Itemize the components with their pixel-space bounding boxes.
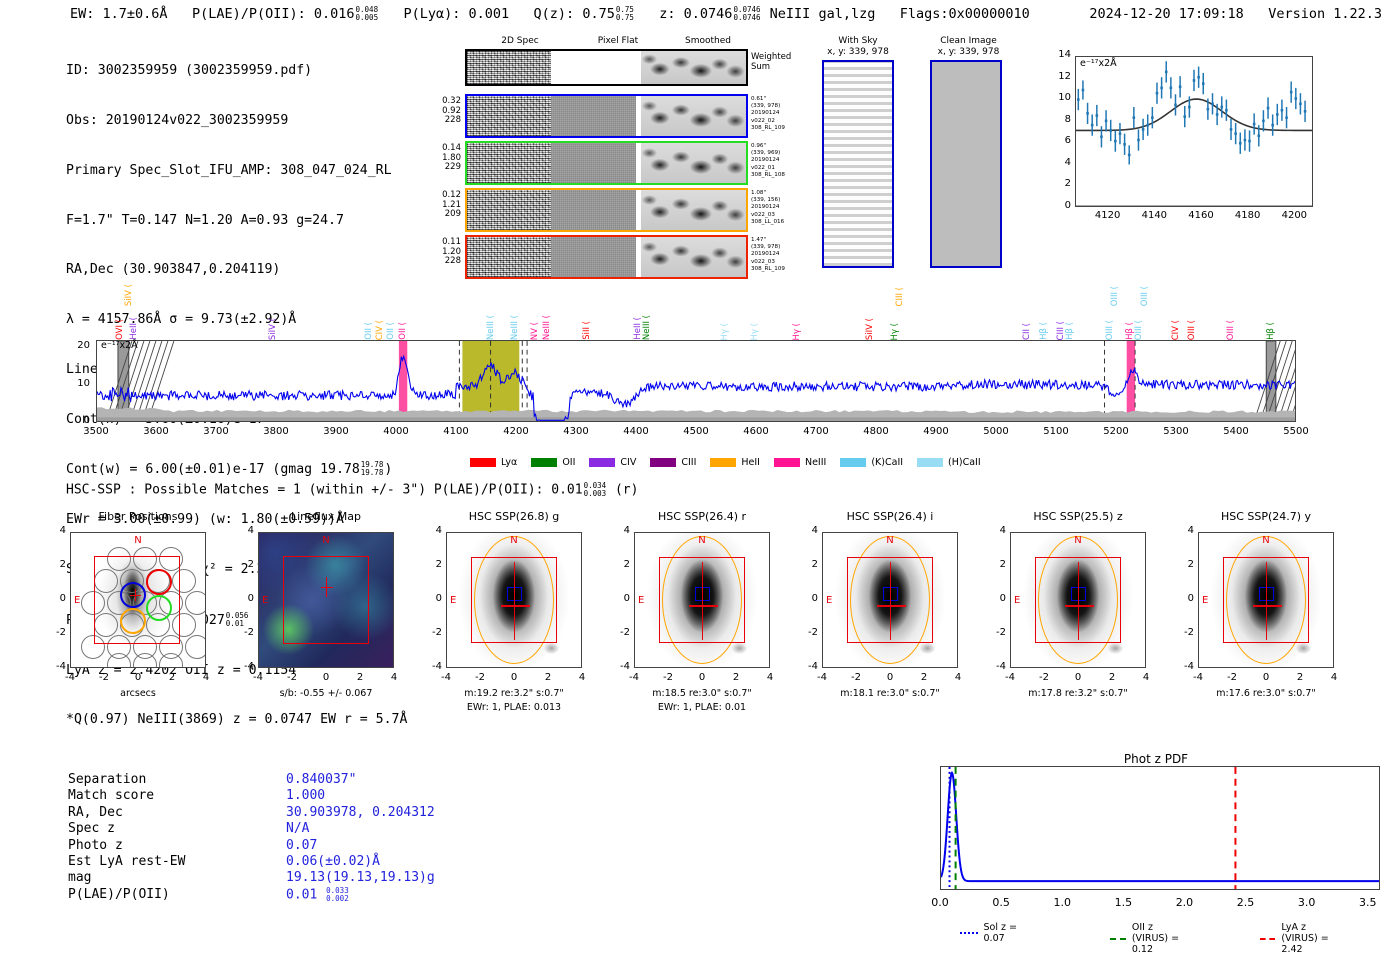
- photz-xtick-5: 2.5: [1226, 896, 1266, 909]
- fiber-4-pixelflat: [551, 237, 636, 277]
- match-row-label-7: P(LAE)/P(OII): [68, 887, 170, 903]
- photz-svg: [941, 767, 1379, 889]
- imaging-3-ytick-3: -2: [608, 627, 630, 638]
- fiber-1-identifier: 0.61"(339, 978)20190124v022_02308_RL_109: [751, 96, 785, 132]
- line-fit-ytick-4: 4: [1051, 157, 1071, 168]
- full-spectrum-plot: e⁻¹⁷x2Å 01020 35003600370038003900400041…: [96, 340, 1296, 432]
- imaging-0-footer-primary: arcsecs: [43, 688, 233, 701]
- imaging-0-xtick-0: -4: [55, 672, 85, 683]
- header-classification: NeIII gal,lzg: [770, 6, 876, 22]
- legend-label-KCaII: (K)CaII: [871, 457, 903, 468]
- imaging-6-footer-primary: m:17.6 re:3.0" s:0.7": [1171, 688, 1361, 701]
- imaging-panel-title-3: HSC SSP(26.4) r: [622, 510, 782, 523]
- fiber-1-pixelflat: [551, 96, 636, 136]
- fiber-2-id-line-3: 20190124: [751, 157, 785, 164]
- legend-swatch-OII: [531, 458, 557, 467]
- imaging-3-ytick-2: 0: [608, 593, 630, 604]
- fiber-2-pixelflat: [551, 143, 636, 183]
- match-row-value-6: 19.13(19.13,19.13)g: [286, 870, 435, 886]
- spectrum-xtick-5100: 5100: [1031, 426, 1081, 437]
- timestamp: 2024-12-20 17:09:18: [1089, 6, 1243, 22]
- legend-swatch-HeII: [710, 458, 736, 467]
- imaging-panel-title-2: HSC SSP(26.8) g: [434, 510, 594, 523]
- fiber-3-identifier: 1.08"(339, 156)20190124v022_03308_LL_016: [751, 190, 784, 226]
- imaging-6-ytick-0: 4: [1172, 525, 1194, 536]
- imaging-4-ytick-2: 0: [796, 593, 818, 604]
- imaging-panel-title-4: HSC SSP(26.4) i: [810, 510, 970, 523]
- photz-legend-label-2: LyA z (VIRUS) = 2.42: [1281, 922, 1332, 955]
- imaging-3-xtick-3: 2: [721, 672, 751, 683]
- spectrum-line-label-OII-3991: OII (: [386, 322, 396, 340]
- fiber-2-id-line-4: v022_01: [751, 165, 785, 172]
- info-cont-w: Cont(w) = 6.00(±0.01)e-17 (gmag 19.7819.…: [66, 461, 407, 479]
- compass-north-label: N: [322, 535, 329, 546]
- full-spectrum-svg: [97, 341, 1295, 421]
- imaging-2-footer-secondary: EWr: 1, PLAE: 0.013: [419, 702, 609, 715]
- photz-pdf-plot: 0.00.51.01.52.02.53.03.5: [928, 766, 1388, 916]
- fiber-2-metric-3: 229: [423, 163, 461, 173]
- spectrum-xtick-3600: 3600: [131, 426, 181, 437]
- header-plae-lo: 0.005: [356, 14, 379, 22]
- col-title-smoothed: Smoothed: [663, 36, 753, 46]
- match-row-label-0: Separation: [68, 772, 146, 788]
- imaging-panel-title-1: Lineflux Map: [246, 510, 406, 523]
- imaging-cross-h: [689, 605, 718, 606]
- spectrum-xtick-4800: 4800: [851, 426, 901, 437]
- imaging-4-xtick-1: -2: [841, 672, 871, 683]
- imaging-panel-image-5[interactable]: NE: [1010, 532, 1146, 668]
- imaging-0-ytick-0: 4: [44, 525, 66, 536]
- fiber-2-identifier: 0.96"(339, 969)20190124v022_01308_RL_108: [751, 143, 785, 179]
- fiber-red-box: [94, 556, 180, 644]
- fiber-2-metrics: 0.141.80229: [423, 144, 461, 173]
- imaging-3-ytick-1: 2: [608, 559, 630, 570]
- fiber-cross-v: [135, 589, 136, 601]
- photz-legend-line-2: [1260, 938, 1275, 940]
- imaging-2-ytick-0: 4: [420, 525, 442, 536]
- spectrum-line-label-NV-4232: NV (: [530, 322, 540, 340]
- compass-north-label: N: [1074, 535, 1081, 546]
- plae-frac: 0.0560.01: [226, 612, 249, 628]
- fiber-2-id-line-2: (339, 969): [751, 150, 785, 157]
- spectrum-legend-item-NeIII: NeIII: [774, 457, 826, 468]
- spectrum-line-label-Hβ-5124: Hβ (: [1065, 322, 1075, 340]
- imaging-panel-fiber-0[interactable]: NE: [70, 532, 206, 668]
- match-row-value-3: N/A: [286, 821, 309, 837]
- imaging-0-xtick-3: 2: [157, 672, 187, 683]
- line-fit-xtick-4180: 4180: [1228, 210, 1268, 221]
- imaging-6-xtick-3: 2: [1285, 672, 1315, 683]
- imaging-1-xtick-1: -2: [277, 672, 307, 683]
- imaging-5-ytick-2: 0: [984, 593, 1006, 604]
- spectrum-line-label-SiIV-3795: SiIV (: [268, 318, 278, 340]
- imaging-1-footer-primary: s/b: -0.55 +/- 0.067: [231, 688, 421, 701]
- imaging-3-xtick-1: -2: [653, 672, 683, 683]
- spectrum-xtick-4900: 4900: [911, 426, 961, 437]
- spectrum-legend-item-CIV: CIV: [589, 457, 636, 468]
- fiber-1-id-line-1: 0.61": [751, 96, 785, 103]
- match-row-value-7: 0.01 0.0330.002: [286, 887, 350, 904]
- imaging-cross-h: [501, 605, 530, 606]
- compass-east-label: E: [450, 595, 456, 606]
- spectrum-ytick-0: 0: [66, 415, 90, 426]
- imaging-panel-lineflux-1[interactable]: NE: [258, 532, 394, 668]
- imaging-0-ytick-1: 2: [44, 559, 66, 570]
- spectrum-xtick-4000: 4000: [371, 426, 421, 437]
- imaging-4-ytick-1: 2: [796, 559, 818, 570]
- clean-image-cutout[interactable]: [930, 60, 1002, 268]
- fiber-4-id-line-5: 308_RL_109: [751, 266, 785, 273]
- imaging-3-xtick-4: 4: [755, 672, 785, 683]
- spectrum-line-label-CIV-5300: CIV (: [1171, 320, 1181, 340]
- fiber-4-id-line-1: 1.47": [751, 237, 785, 244]
- match-row-label-2: RA, Dec: [68, 805, 123, 821]
- imaging-5-xtick-2: 0: [1063, 672, 1093, 683]
- imaging-panel-title-6: HSC SSP(24.7) y: [1186, 510, 1346, 523]
- legend-swatch-CIII: [650, 458, 676, 467]
- spectrum-line-label-Hγ-4598: Hγ (: [750, 323, 760, 340]
- compass-east-label: E: [638, 595, 644, 606]
- compass-north-label: N: [134, 535, 141, 546]
- imaging-1-xtick-3: 2: [345, 672, 375, 683]
- imaging-1-ytick-3: -2: [232, 627, 254, 638]
- imaging-2-xtick-1: -2: [465, 672, 495, 683]
- fiber-circle-4-4[interactable]: [185, 635, 206, 659]
- legend-swatch-HCaII: [917, 458, 943, 467]
- cont-w-suffix: ): [384, 462, 392, 477]
- weighted-sum-smoothed: [641, 51, 746, 84]
- imaging-cross-h: [1065, 605, 1094, 606]
- legend-label-OII: OII: [562, 457, 575, 468]
- compass-east-label: E: [826, 595, 832, 606]
- fiber-1-2dspec: [467, 96, 551, 136]
- match-row-value-4: 0.07: [286, 838, 317, 854]
- header-qz-lo: 0.75: [616, 14, 634, 22]
- legend-swatch-KCaII: [840, 458, 866, 467]
- legend-swatch-NeIII: [774, 458, 800, 467]
- spectrum-line-label-SiIV-3555: SiIV (: [124, 284, 134, 306]
- hscssp-header: HSC-SSP : Possible Matches = 1 (within +…: [66, 482, 638, 498]
- imaging-panel-image-6[interactable]: NE: [1198, 532, 1334, 668]
- imaging-cross-h: [1253, 605, 1282, 606]
- line-fit-xtick-4120: 4120: [1088, 210, 1128, 221]
- spectrum-line-label-OII-3955: OII (: [364, 322, 374, 340]
- header-z-lo: 0.0746: [733, 14, 760, 22]
- photz-legend-item-0: Sol z = 0.07: [960, 922, 1017, 944]
- fiber-1-metrics: 0.320.92228: [423, 97, 461, 126]
- imaging-1-xtick-2: 0: [311, 672, 341, 683]
- spectrum-xtick-4400: 4400: [611, 426, 661, 437]
- sky-cutouts-group: With Sky x, y: 339, 978 Clean Image x, y…: [808, 36, 1038, 286]
- imaging-5-xtick-3: 2: [1097, 672, 1127, 683]
- imaging-2-xtick-2: 0: [499, 672, 529, 683]
- legend-label-CIII: CIII: [681, 457, 696, 468]
- spectrum-ytick-10: 10: [66, 378, 90, 389]
- fiber-2-id-line-5: 308_RL_108: [751, 172, 785, 179]
- compass-east-label: E: [1202, 595, 1208, 606]
- with-sky-title-text: With Sky: [808, 36, 908, 47]
- fiber-circle-2-4[interactable]: [185, 591, 206, 615]
- spectrum-xtick-5000: 5000: [971, 426, 1021, 437]
- imaging-cross-v: [1078, 562, 1079, 640]
- fiber-3-2dspec: [467, 190, 551, 230]
- line-fit-svg: [1076, 57, 1312, 206]
- header-plae-label: P(LAE)/P(OII):: [192, 6, 306, 22]
- imaging-panel-title-0: Fiber Positions: [58, 510, 218, 523]
- imaging-panel-image-4[interactable]: NE: [822, 532, 958, 668]
- fiber-1-id-line-2: (339, 978): [751, 103, 785, 110]
- line-fit-units-note: e⁻¹⁷x2Å: [1080, 58, 1117, 69]
- fiber-1-id-line-3: 20190124: [751, 110, 785, 117]
- weighted-sum-label: Weighted Sum: [751, 52, 791, 72]
- weighted-sum-pixelflat: [551, 51, 636, 84]
- photz-xtick-4: 2.0: [1164, 896, 1204, 909]
- line-fit-ytick-8: 8: [1051, 114, 1071, 125]
- imaging-5-ytick-4: -4: [984, 661, 1006, 672]
- imaging-1-ytick-2: 0: [232, 593, 254, 604]
- fiber-4-metrics: 0.111.20228: [423, 238, 461, 267]
- info-qline: *Q(0.97) NeIII(3869) z = 0.0747 EW r = 5…: [66, 712, 407, 729]
- fiber-panel-3[interactable]: [465, 188, 748, 232]
- photz-xtick-1: 0.5: [981, 896, 1021, 909]
- legend-label-Lyα: Lyα: [501, 457, 517, 468]
- weighted-sum-2dspec: [467, 51, 551, 84]
- header-qz-frac: 0.750.75: [616, 6, 634, 22]
- line-fit-plot: e⁻¹⁷x2Å 02468101214 41204140416041804200: [1035, 48, 1313, 233]
- imaging-4-footer-primary: m:18.1 re:3.0" s:0.7": [795, 688, 985, 701]
- imaging-2-ytick-3: -2: [420, 627, 442, 638]
- weighted-sum-label-line2: Sum: [751, 62, 791, 72]
- line-fit-ytick-6: 6: [1051, 135, 1071, 146]
- fiber-1-id-line-5: 308_RL_109: [751, 125, 785, 132]
- imaging-4-ytick-0: 4: [796, 525, 818, 536]
- spectrum-line-label-Hβ-5458: Hβ (: [1266, 322, 1276, 340]
- cont-w-frac: 19.7819.78: [361, 461, 384, 477]
- weighted-sum-label-line1: Weighted: [751, 52, 791, 62]
- spectrum-legend-item-CIII: CIII: [650, 457, 696, 468]
- imaging-4-xtick-2: 0: [875, 672, 905, 683]
- clean-image-coords: x, y: 339, 978: [916, 47, 1021, 58]
- spectrum-line-label-OIII-5326: OIII (: [1187, 320, 1197, 340]
- photz-xtick-2: 1.0: [1042, 896, 1082, 909]
- lineflux-red-box: [283, 556, 369, 644]
- cont-w-prefix: Cont(w) = 6.00(±0.01)e-17 (gmag 19.78: [66, 462, 360, 477]
- spectrum-xtick-5300: 5300: [1151, 426, 1201, 437]
- imaging-5-xtick-0: -4: [995, 672, 1025, 683]
- photz-xtick-3: 1.5: [1103, 896, 1143, 909]
- fiber-4-id-line-2: (339, 978): [751, 244, 785, 251]
- fiber-3-metrics: 0.121.21209: [423, 191, 461, 220]
- photz-legend-label-1: OII z (VIRUS) = 0.12: [1132, 922, 1182, 955]
- spec2d-panel-group: 2D Spec Pixel Flat Smoothed Weighted Sum…: [455, 36, 800, 281]
- compass-north-label: N: [510, 535, 517, 546]
- imaging-1-ytick-1: 2: [232, 559, 254, 570]
- spectrum-xtick-4600: 4600: [731, 426, 781, 437]
- full-spectrum-axes: e⁻¹⁷x2Å: [96, 340, 1296, 422]
- legend-label-CIV: CIV: [620, 457, 636, 468]
- spectrum-xtick-4700: 4700: [791, 426, 841, 437]
- fiber-panel-2[interactable]: [465, 141, 748, 185]
- info-obs: Obs: 20190124v022_3002359959: [66, 113, 407, 130]
- fiber-3-metric-3: 209: [423, 210, 461, 220]
- info-primary-slot: Primary Spec_Slot_IFU_AMP: 308_047_024_R…: [66, 163, 407, 180]
- photz-legend-line-0: [960, 932, 978, 934]
- spectrum-line-label-OII-4012: OII (: [398, 322, 408, 340]
- spectrum-xtick-3500: 3500: [71, 426, 121, 437]
- spectrum-xtick-4200: 4200: [491, 426, 541, 437]
- imaging-4-xtick-0: -4: [807, 672, 837, 683]
- spectrum-xtick-3800: 3800: [251, 426, 301, 437]
- header-plae-frac: 0.0480.005: [356, 6, 379, 22]
- line-fit-ytick-0: 0: [1051, 200, 1071, 211]
- imaging-panel-image-2[interactable]: NE: [446, 532, 582, 668]
- spectrum-line-label-SiIV-4790: SiIV (: [865, 318, 875, 340]
- clean-image-title-text: Clean Image: [916, 36, 1021, 47]
- fiber-panel-1[interactable]: [465, 94, 748, 138]
- header-z-frac: 0.07460.0746: [733, 6, 760, 22]
- imaging-4-xtick-3: 2: [909, 672, 939, 683]
- fiber-3-id-line-4: v022_03: [751, 212, 784, 219]
- imaging-5-footer-primary: m:17.8 re:3.2" s:0.7": [983, 688, 1173, 701]
- match-row-label-5: Est LyA rest-EW: [68, 854, 185, 870]
- line-fit-xtick-4140: 4140: [1134, 210, 1174, 221]
- imaging-3-ytick-4: -4: [608, 661, 630, 672]
- spectrum-legend-item-Lyα: Lyα: [470, 457, 517, 468]
- imaging-0-xtick-2: 0: [123, 672, 153, 683]
- imaging-0-ytick-3: -2: [44, 627, 66, 638]
- fiber-4-id-line-4: v022_03: [751, 259, 785, 266]
- spectrum-xtick-5500: 5500: [1271, 426, 1321, 437]
- compass-north-label: N: [1262, 535, 1269, 546]
- imaging-3-xtick-2: 0: [687, 672, 717, 683]
- spectrum-line-label-CIV-3973: CIV (: [375, 320, 385, 340]
- fiber-4-identifier: 1.47"(339, 978)20190124v022_03308_RL_109: [751, 237, 785, 273]
- hscssp-header-suffix: (r): [615, 483, 638, 498]
- legend-label-HeII: HeII: [741, 457, 760, 468]
- info-radec: RA,Dec (30.903847,0.204119): [66, 262, 407, 279]
- info-id: ID: 3002359959 (3002359959.pdf): [66, 63, 407, 80]
- match-row-label-6: mag: [68, 870, 91, 886]
- spectrum-legend-item-OII: OII: [531, 457, 575, 468]
- fiber-3-smoothed: [641, 190, 746, 230]
- imaging-5-ytick-0: 4: [984, 525, 1006, 536]
- header-flags: Flags:0x00000010: [900, 6, 1030, 22]
- hscssp-header-lo: 0.003: [584, 490, 607, 498]
- spectrum-xtick-4100: 4100: [431, 426, 481, 437]
- spectrum-line-label-Hβ-5080: Hβ (: [1039, 322, 1049, 340]
- imaging-cross-v: [514, 562, 515, 640]
- fiber-panel-4[interactable]: [465, 235, 748, 279]
- imaging-3-ytick-0: 4: [608, 525, 630, 536]
- compass-east-label: E: [1014, 595, 1020, 606]
- imaging-2-ytick-1: 2: [420, 559, 442, 570]
- imaging-3-footer-secondary: EWr: 1, PLAE: 0.01: [607, 702, 797, 715]
- spectrum-legend-item-KCaII: (K)CaII: [840, 457, 903, 468]
- line-fit-axes: e⁻¹⁷x2Å: [1075, 56, 1313, 207]
- match-row-value-2: 30.903978, 0.204312: [286, 805, 435, 821]
- imaging-0-xtick-1: -2: [89, 672, 119, 683]
- spectrum-line-label-HeII-3563: HeII (: [129, 317, 139, 340]
- imaging-5-ytick-1: 2: [984, 559, 1006, 570]
- fiber-3-id-line-2: (339, 156): [751, 197, 784, 204]
- fiber-3-pixelflat: [551, 190, 636, 230]
- imaging-0-xtick-4: 4: [191, 672, 221, 683]
- imaging-2-xtick-0: -4: [431, 672, 461, 683]
- with-sky-title: With Sky x, y: 339, 978: [808, 36, 908, 58]
- spectrum-line-label-SiII-4318: SiII (: [582, 321, 592, 340]
- imaging-2-footer-primary: m:19.2 re:3.2" s:0.7": [419, 688, 609, 701]
- imaging-5-xtick-1: -2: [1029, 672, 1059, 683]
- col-title-2dspec: 2D Spec: [470, 36, 570, 46]
- spectrum-line-label-CII-5052: CII (: [1022, 323, 1032, 340]
- imaging-2-xtick-4: 4: [567, 672, 597, 683]
- header-ew: EW: 1.7±0.6Å: [70, 6, 168, 22]
- fiber-2-2dspec: [467, 143, 551, 183]
- spectrum-line-label-OIII-5190: OIII (: [1105, 320, 1115, 340]
- imaging-1-ytick-0: 4: [232, 525, 254, 536]
- spectrum-xtick-5400: 5400: [1211, 426, 1261, 437]
- imaging-cross-v: [1266, 562, 1267, 640]
- fiber-3-id-line-1: 1.08": [751, 190, 784, 197]
- info-seeing-params: F=1.7" T=0.147 N=1.20 A=0.93 g=24.7: [66, 213, 407, 230]
- imaging-2-ytick-2: 0: [420, 593, 442, 604]
- spectrum-xtick-5200: 5200: [1091, 426, 1141, 437]
- imaging-panel-title-5: HSC SSP(25.5) z: [998, 510, 1158, 523]
- spectrum-line-label-Hγ-4548: Hγ (: [720, 323, 730, 340]
- compass-north-label: N: [886, 535, 893, 546]
- line-fit-xtick-4200: 4200: [1274, 210, 1314, 221]
- fiber-1-id-line-4: v022_02: [751, 118, 785, 125]
- imaging-4-xtick-4: 4: [943, 672, 973, 683]
- imaging-3-xtick-0: -4: [619, 672, 649, 683]
- line-fit-xtick-4160: 4160: [1181, 210, 1221, 221]
- spectrum-line-label-NeIII-4252: NeIII (: [542, 315, 552, 340]
- spectrum-line-label-CIII-4840: CIII (: [895, 287, 905, 306]
- imaging-panel-image-3[interactable]: NE: [634, 532, 770, 668]
- imaging-6-xtick-0: -4: [1183, 672, 1213, 683]
- imaging-6-ytick-1: 2: [1172, 559, 1194, 570]
- imaging-1-ytick-4: -4: [232, 661, 254, 672]
- fiber-4-2dspec: [467, 237, 551, 277]
- line-fit-ytick-14: 14: [1051, 49, 1071, 60]
- match-row-label-4: Photo z: [68, 838, 123, 854]
- imaging-4-ytick-4: -4: [796, 661, 818, 672]
- photz-xtick-0: 0.0: [920, 896, 960, 909]
- spectrum-xtick-4300: 4300: [551, 426, 601, 437]
- photz-xtick-6: 3.0: [1287, 896, 1327, 909]
- with-sky-coords: x, y: 339, 978: [808, 47, 908, 58]
- header-summary-line: EW: 1.7±0.6Å P(LAE)/P(OII): 0.0160.0480.…: [70, 6, 1030, 22]
- fiber-2-id-line-1: 0.96": [751, 143, 785, 150]
- spectrum-line-label-OIII-5392: OIII (: [1226, 320, 1236, 340]
- imaging-6-xtick-1: -2: [1217, 672, 1247, 683]
- legend-swatch-CIV: [589, 458, 615, 467]
- legend-swatch-Lyα: [470, 458, 496, 467]
- header-timestamp-version: 2024-12-20 17:09:18 Version 1.22.3: [1089, 6, 1382, 22]
- imaging-4-ytick-3: -2: [796, 627, 818, 638]
- header-plae-value: 0.016: [314, 6, 355, 22]
- imaging-6-ytick-2: 0: [1172, 593, 1194, 604]
- with-sky-cutout[interactable]: [822, 60, 894, 268]
- spectrum-line-label-OIII-5238: OIII (: [1134, 320, 1144, 340]
- spectrum-line-label-OIII-5248: OIII (: [1140, 286, 1150, 306]
- header-qz: Q(z): 0.75: [534, 6, 615, 22]
- photz-legend-line-1: [1110, 938, 1126, 940]
- match-row-label-1: Match score: [68, 788, 154, 804]
- match-row-value-1: 1.000: [286, 788, 325, 804]
- fiber-3-id-line-3: 20190124: [751, 204, 784, 211]
- legend-label-NeIII: NeIII: [805, 457, 826, 468]
